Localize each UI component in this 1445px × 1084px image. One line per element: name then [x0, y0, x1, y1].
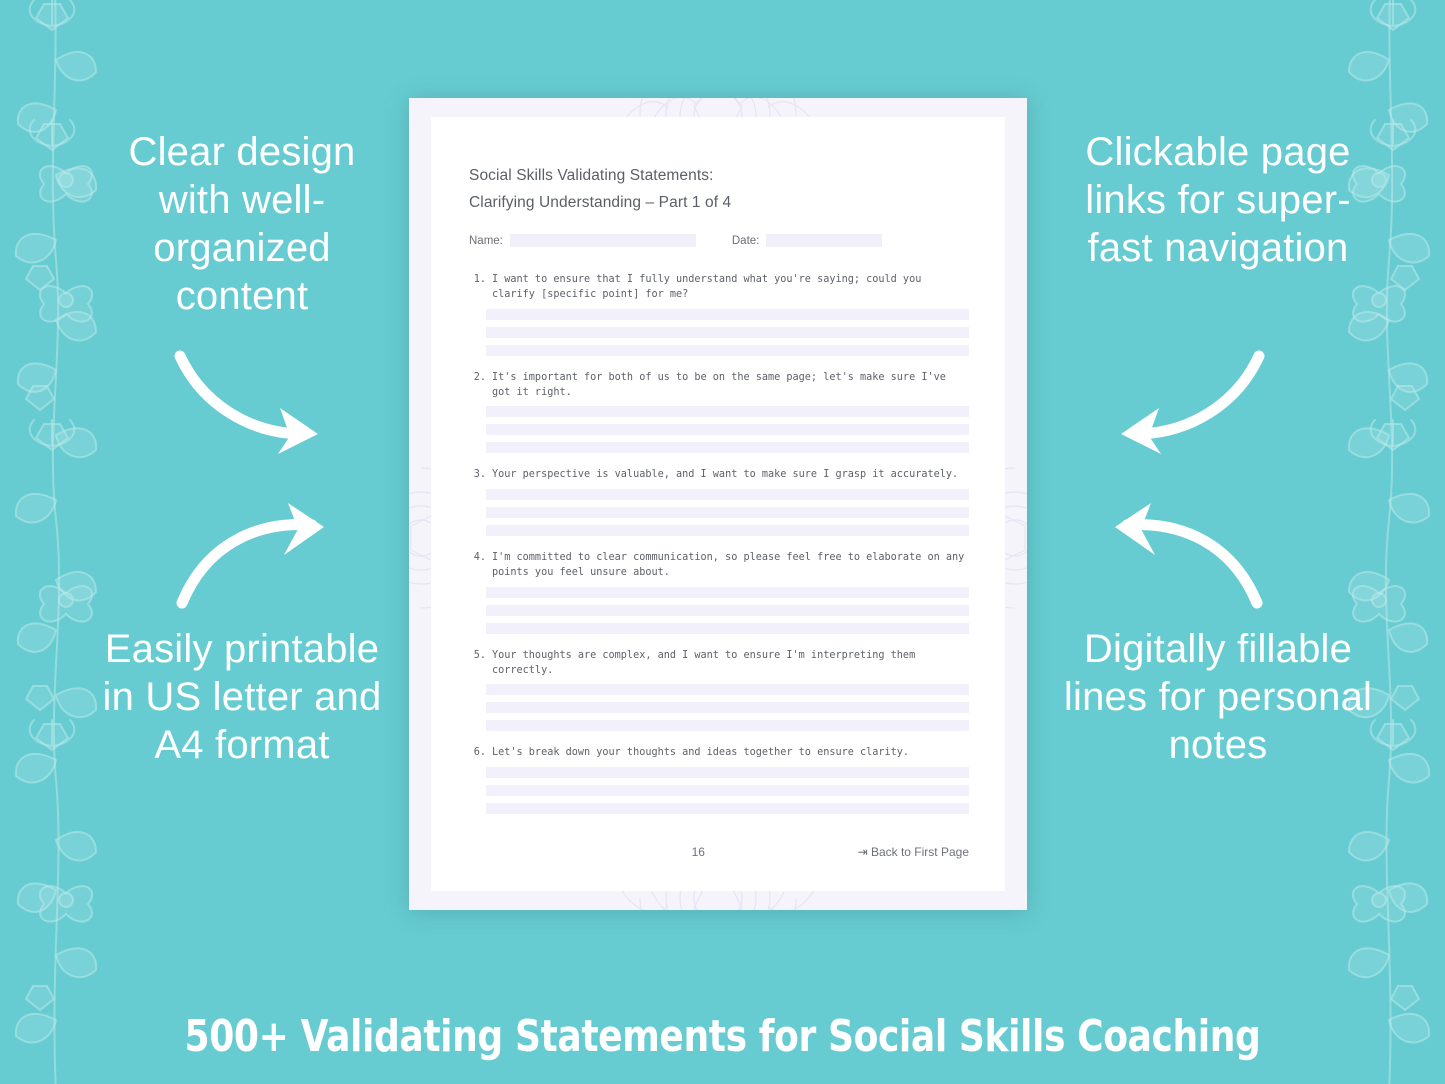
curved-arrow-left-down-icon: [1092, 350, 1267, 455]
statement-text: It's important for both of us to be on t…: [492, 371, 969, 401]
statement-item: 2.It's important for both of us to be on…: [469, 371, 969, 454]
fillable-line[interactable]: [486, 327, 969, 338]
statement-list: 1.I want to ensure that I fully understa…: [469, 273, 969, 814]
statement-item: 3.Your perspective is valuable, and I wa…: [469, 468, 969, 536]
curved-arrow-right-down-icon: [172, 350, 347, 455]
promo-text-clear-design: Clear design with well-organized content: [92, 128, 392, 320]
statement-number: 2.: [469, 371, 492, 401]
curved-arrow-right-up-icon: [172, 505, 347, 610]
fillable-line[interactable]: [486, 424, 969, 435]
fillable-line[interactable]: [486, 803, 969, 814]
page-footer: 16 ⇥ Back to First Page: [469, 845, 969, 859]
statement-text: Your perspective is valuable, and I want…: [492, 468, 969, 483]
curved-arrow-left-up-icon: [1092, 505, 1267, 610]
statement-item: 5.Your thoughts are complex, and I want …: [469, 649, 969, 732]
statement-answer-lines: [486, 767, 969, 814]
statement-head: 1.I want to ensure that I fully understa…: [469, 273, 969, 303]
identity-row: Name: Date:: [469, 234, 969, 247]
statement-answer-lines: [486, 684, 969, 731]
statement-number: 5.: [469, 649, 492, 679]
promo-text-printable: Easily printable in US letter and A4 for…: [92, 625, 392, 769]
fillable-line[interactable]: [486, 309, 969, 320]
page-title-line2: Clarifying Understanding – Part 1 of 4: [469, 189, 969, 216]
statement-head: 2.It's important for both of us to be on…: [469, 371, 969, 401]
fillable-line[interactable]: [486, 684, 969, 695]
page-title: Social Skills Validating Statements: Cla…: [469, 162, 969, 216]
statement-text: Your thoughts are complex, and I want to…: [492, 649, 969, 679]
fillable-line[interactable]: [486, 702, 969, 713]
statement-answer-lines: [486, 489, 969, 536]
fillable-line[interactable]: [486, 345, 969, 356]
statement-number: 1.: [469, 273, 492, 303]
promo-text-clickable-links: Clickable page links for super-fast navi…: [1063, 128, 1373, 272]
statement-item: 6.Let's break down your thoughts and ide…: [469, 746, 969, 814]
fillable-line[interactable]: [486, 525, 969, 536]
fillable-line[interactable]: [486, 587, 969, 598]
fillable-line[interactable]: [486, 406, 969, 417]
date-label: Date:: [732, 235, 760, 247]
fillable-line[interactable]: [486, 720, 969, 731]
fillable-line[interactable]: [486, 489, 969, 500]
fillable-line[interactable]: [486, 767, 969, 778]
statement-text: I want to ensure that I fully understand…: [492, 273, 969, 303]
statement-text: Let's break down your thoughts and ideas…: [492, 746, 969, 761]
worksheet-document[interactable]: Social Skills Validating Statements: Cla…: [409, 98, 1027, 910]
statement-answer-lines: [486, 309, 969, 356]
statement-text: I'm committed to clear communication, so…: [492, 551, 969, 581]
fillable-line[interactable]: [486, 442, 969, 453]
worksheet-page: Social Skills Validating Statements: Cla…: [431, 117, 1005, 891]
statement-item: 4.I'm committed to clear communication, …: [469, 551, 969, 634]
name-field[interactable]: [510, 234, 696, 247]
statement-answer-lines: [486, 587, 969, 634]
fillable-line[interactable]: [486, 785, 969, 796]
statement-head: 4.I'm committed to clear communication, …: [469, 551, 969, 581]
statement-number: 6.: [469, 746, 492, 761]
statement-head: 3.Your perspective is valuable, and I wa…: [469, 468, 969, 483]
statement-number: 4.: [469, 551, 492, 581]
statement-number: 3.: [469, 468, 492, 483]
promo-text-fillable-lines: Digitally fillable lines for personal no…: [1063, 625, 1373, 769]
statement-head: 5.Your thoughts are complex, and I want …: [469, 649, 969, 679]
name-label: Name:: [469, 235, 503, 247]
fillable-line[interactable]: [486, 507, 969, 518]
page-number: 16: [469, 845, 858, 859]
fillable-line[interactable]: [486, 605, 969, 616]
fillable-line[interactable]: [486, 623, 969, 634]
back-to-first-page-link[interactable]: ⇥ Back to First Page: [858, 845, 969, 859]
date-field[interactable]: [766, 234, 882, 247]
statement-head: 6.Let's break down your thoughts and ide…: [469, 746, 969, 761]
statement-answer-lines: [486, 406, 969, 453]
statement-item: 1.I want to ensure that I fully understa…: [469, 273, 969, 356]
banner-headline: 500+ Validating Statements for Social Sk…: [130, 1011, 1315, 1062]
promo-canvas: Clear design with well-organized content…: [0, 0, 1445, 1084]
page-title-line1: Social Skills Validating Statements:: [469, 162, 969, 189]
